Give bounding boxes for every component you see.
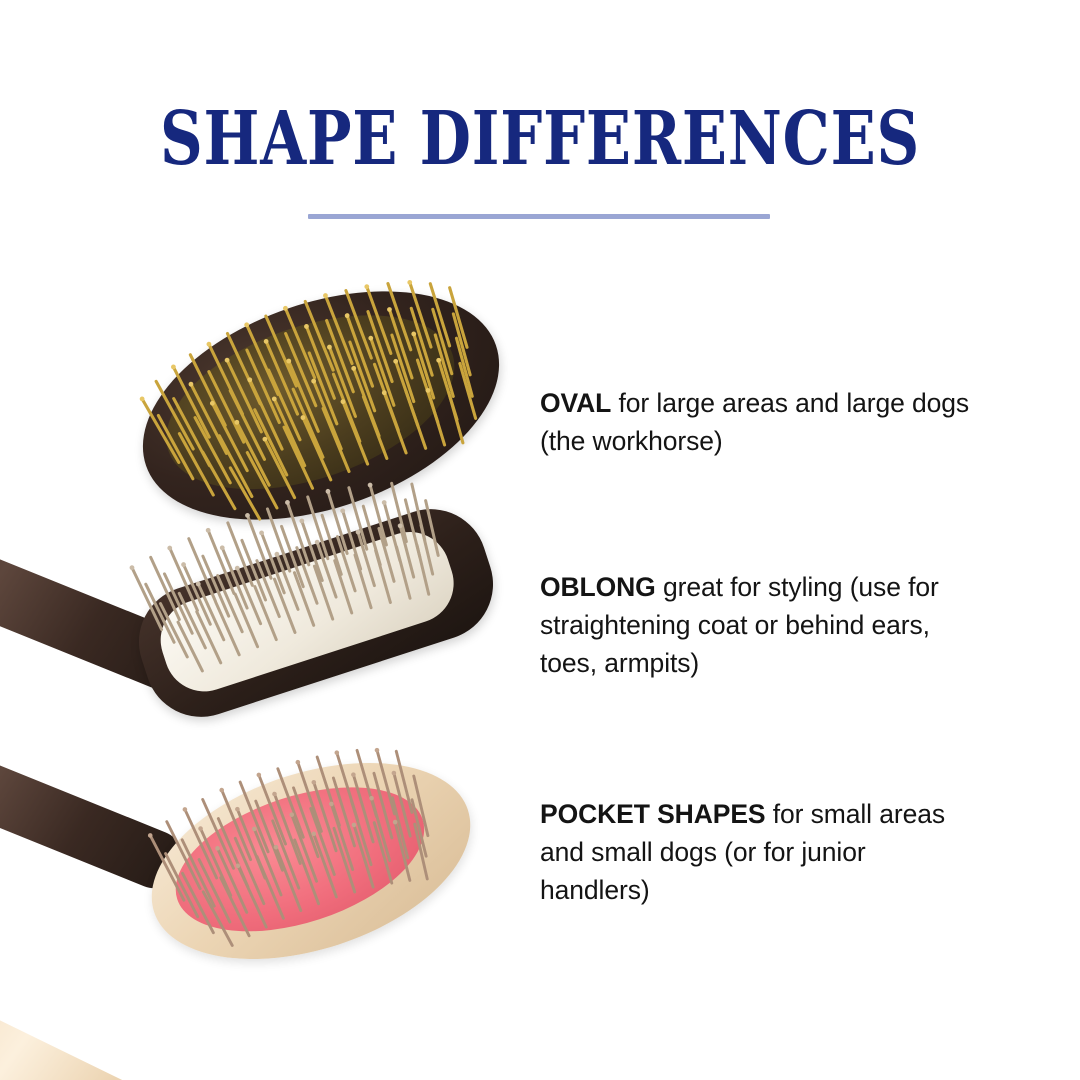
caption-oblong-lead: OBLONG — [540, 572, 656, 602]
oblong-brush-head — [124, 495, 507, 732]
poster-canvas: SHAPE DIFFERENCES OVAL for large areas a… — [0, 0, 1080, 1080]
caption-pocket-lead: POCKET SHAPES — [540, 799, 765, 829]
caption-oval-lead: OVAL — [540, 388, 611, 418]
pocket-brush — [0, 745, 520, 1080]
title-divider — [308, 214, 770, 219]
page-title: SHAPE DIFFERENCES — [108, 98, 972, 180]
caption-oval: OVAL for large areas and large dogs (the… — [540, 384, 970, 460]
pocket-brush-head — [127, 726, 495, 995]
caption-oblong: OBLONG great for styling (use for straig… — [540, 568, 970, 682]
caption-pocket: POCKET SHAPES for small areas and small … — [540, 795, 970, 909]
